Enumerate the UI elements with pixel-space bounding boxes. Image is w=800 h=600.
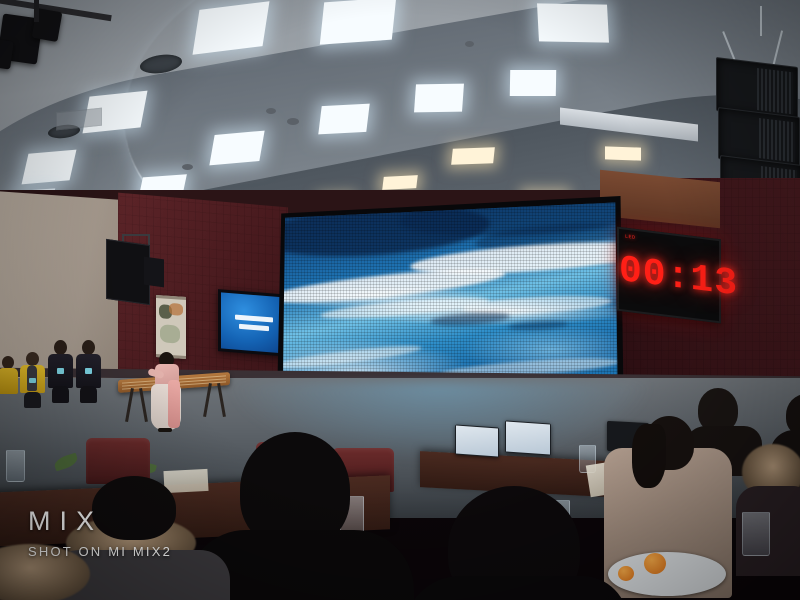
ceiling-speaker — [287, 118, 299, 125]
speaker-cabinet — [144, 257, 164, 288]
ceiling-panel-light — [537, 3, 609, 42]
ceiling-panel-light — [22, 150, 77, 185]
slide-text-line-1 — [235, 315, 273, 323]
decorative-plant — [53, 453, 80, 472]
paper-document — [163, 469, 208, 493]
ceiling-smoke-detector — [266, 108, 276, 114]
ceiling-panel-light — [414, 84, 464, 113]
person-hair — [632, 424, 666, 488]
ceiling-panel-light — [209, 131, 264, 166]
stage-light-truss — [0, 4, 114, 88]
slide-text-line-2 — [239, 324, 269, 331]
truss-bar — [34, 0, 39, 22]
laptop-screen — [506, 421, 550, 454]
person-lanyard-badge — [57, 368, 64, 374]
timer-brand-label: LED — [625, 234, 636, 241]
staff-dark-coat-2 — [74, 340, 104, 402]
laptop-screen — [456, 426, 498, 457]
stage-spotlight — [0, 38, 14, 69]
ceiling-speaker — [182, 164, 193, 170]
scroll-ink-art — [160, 324, 180, 343]
wave-foam — [272, 342, 422, 372]
orange-fruit — [618, 566, 634, 581]
watermark-tagline: SHOT ON MI MIX2 — [28, 544, 172, 559]
speaker-grill — [757, 68, 793, 114]
laptop — [455, 424, 499, 457]
watermark-brand: MIX — [28, 508, 172, 535]
person-lanyard-badge — [29, 378, 36, 383]
photo-scene: LED 00:13 — [0, 0, 800, 600]
person-head — [82, 340, 95, 355]
wave-dark — [430, 310, 511, 328]
staff-dark-coat-1 — [46, 340, 76, 402]
ceiling-panel-light — [320, 0, 396, 45]
person-vest — [0, 368, 18, 394]
drinking-glass — [6, 450, 25, 482]
countdown-timer-panel: LED 00:13 — [617, 227, 721, 324]
person-head — [54, 340, 67, 355]
ceiling-panel-light — [318, 104, 369, 135]
ceiling-panel-light — [510, 70, 556, 96]
wave-dark — [508, 319, 568, 331]
orange-fruit — [644, 553, 666, 574]
timer-value: 00:13 — [619, 249, 719, 304]
person-lanyard-badge — [85, 368, 92, 374]
ceiling-recessed-light — [605, 146, 641, 160]
person-shoulder — [404, 576, 628, 600]
volunteer-yellow-vest — [18, 352, 48, 406]
rigging-wire — [760, 6, 762, 36]
ceiling-smoke-detector — [465, 41, 474, 47]
camera-watermark: MIX SHOT ON MI MIX2 — [28, 508, 172, 559]
person-head — [26, 352, 39, 366]
speaker-grill — [759, 118, 795, 162]
audience-foreground — [0, 400, 800, 600]
ceiling-recessed-light — [382, 175, 418, 190]
ceiling-recessed-light — [451, 147, 495, 165]
scroll-ink-art — [169, 303, 183, 316]
laptop — [505, 420, 551, 455]
drinking-glass — [742, 512, 770, 556]
